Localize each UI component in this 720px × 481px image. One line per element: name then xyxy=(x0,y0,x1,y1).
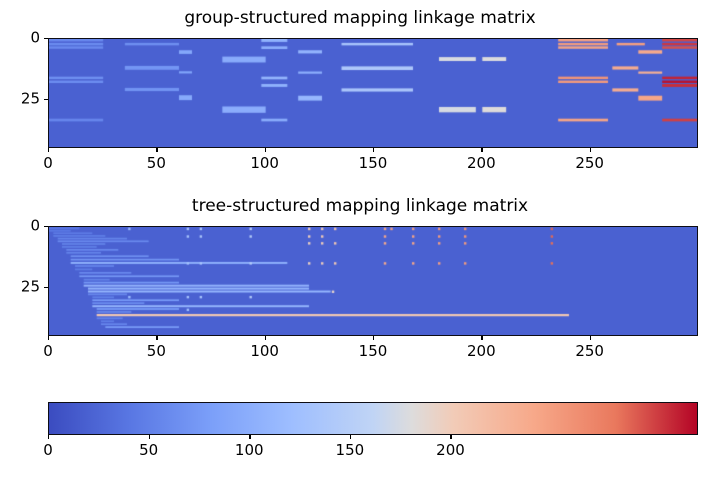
colorbar-gradient xyxy=(49,403,697,434)
colorbar-panel: 050100150200 xyxy=(0,398,720,481)
colorbar-tick-mark xyxy=(249,435,250,439)
heatmap-axes-group[interactable] xyxy=(48,38,698,148)
y-tick-mark xyxy=(44,226,48,227)
x-tick-mark xyxy=(590,148,591,152)
x-tick-mark xyxy=(156,336,157,340)
x-tick-mark xyxy=(373,336,374,340)
colorbar-tick-label: 150 xyxy=(336,443,365,458)
x-tick-label: 250 xyxy=(575,344,604,359)
x-tick-mark xyxy=(481,148,482,152)
y-tick-mark xyxy=(44,287,48,288)
x-tick-label: 250 xyxy=(575,156,604,171)
x-tick-label: 0 xyxy=(43,344,53,359)
panel-tree-structured: tree-structured mapping linkage matrix 0… xyxy=(0,188,720,368)
x-tick-label: 100 xyxy=(250,156,279,171)
panel-title-group: group-structured mapping linkage matrix xyxy=(0,10,720,27)
x-tick-label: 0 xyxy=(43,156,53,171)
y-tick-label: 25 xyxy=(2,92,40,107)
x-tick-mark xyxy=(48,148,49,152)
colorbar-tick-label: 100 xyxy=(235,443,264,458)
colorbar-tick-mark xyxy=(450,435,451,439)
panel-group-structured: group-structured mapping linkage matrix … xyxy=(0,0,720,180)
y-tick-label: 0 xyxy=(2,31,40,46)
x-tick-mark xyxy=(373,148,374,152)
figure-canvas: group-structured mapping linkage matrix … xyxy=(0,0,720,481)
colorbar-tick-mark xyxy=(350,435,351,439)
x-tick-label: 150 xyxy=(359,344,388,359)
y-tick-label: 25 xyxy=(2,280,40,295)
x-tick-mark xyxy=(481,336,482,340)
x-tick-label: 200 xyxy=(467,344,496,359)
colorbar-tick-label: 0 xyxy=(43,443,53,458)
colorbar-axes[interactable] xyxy=(48,402,698,435)
x-tick-mark xyxy=(265,148,266,152)
y-tick-label: 0 xyxy=(2,219,40,234)
x-tick-label: 100 xyxy=(250,344,279,359)
x-tick-label: 50 xyxy=(147,344,166,359)
x-tick-label: 150 xyxy=(359,156,388,171)
heatmap-axes-tree[interactable] xyxy=(48,226,698,336)
colorbar-tick-mark xyxy=(48,435,49,439)
x-tick-mark xyxy=(156,148,157,152)
x-tick-mark xyxy=(590,336,591,340)
y-tick-mark xyxy=(44,99,48,100)
x-tick-label: 50 xyxy=(147,156,166,171)
x-tick-mark xyxy=(265,336,266,340)
colorbar-tick-label: 50 xyxy=(139,443,158,458)
colorbar-tick-label: 200 xyxy=(436,443,465,458)
heatmap-image-tree xyxy=(49,227,698,336)
x-tick-mark xyxy=(48,336,49,340)
heatmap-image-group xyxy=(49,39,698,148)
y-tick-mark xyxy=(44,38,48,39)
x-tick-label: 200 xyxy=(467,156,496,171)
panel-title-tree: tree-structured mapping linkage matrix xyxy=(0,198,720,215)
colorbar-tick-mark xyxy=(149,435,150,439)
